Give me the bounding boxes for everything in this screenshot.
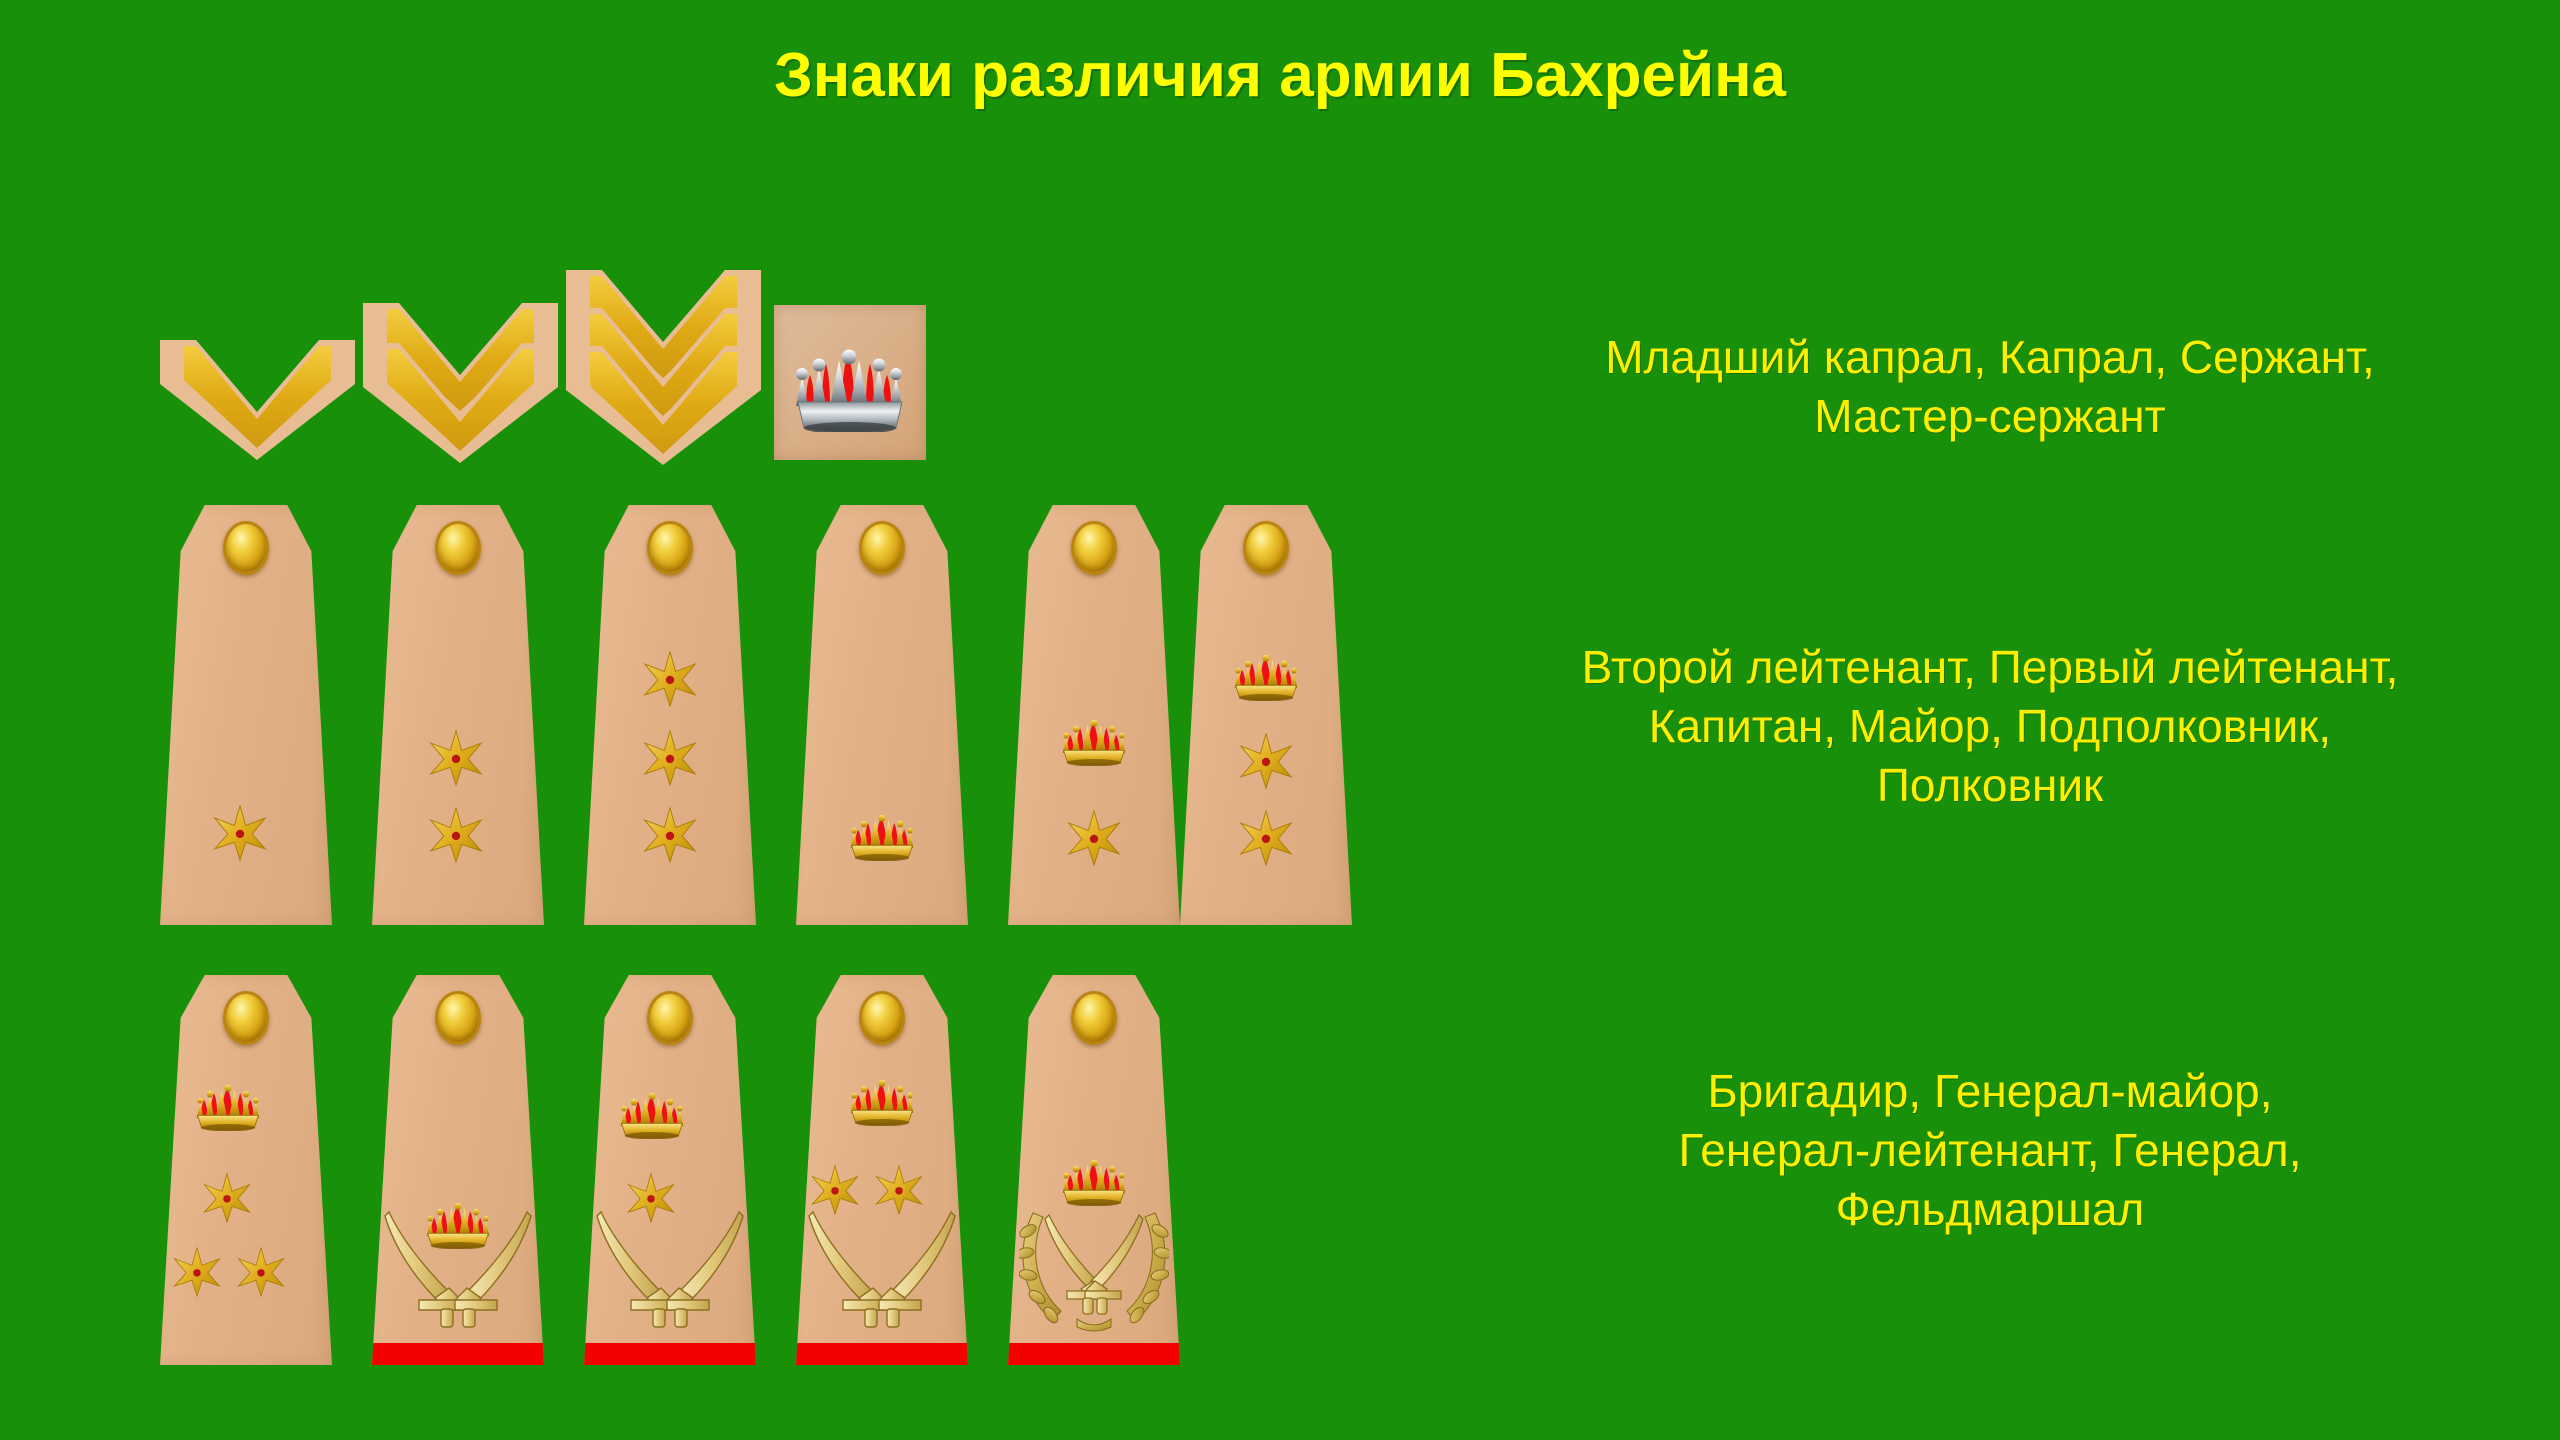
seven-point-star-icon	[428, 807, 484, 863]
insignia-master-sergeant	[774, 305, 926, 460]
seven-point-star-icon	[1066, 810, 1122, 866]
seven-point-star-icon	[428, 730, 484, 786]
epaulette-button-icon	[435, 991, 481, 1045]
caption-nco-ranks: Младший капрал, Капрал, Сержант, Мастер-…	[1490, 328, 2490, 446]
seven-point-star-icon	[236, 1247, 286, 1297]
caption-line: Второй лейтенант, Первый лейтенант,	[1490, 638, 2490, 697]
insignia-major-general	[372, 975, 544, 1365]
caption-officer-ranks: Второй лейтенант, Первый лейтенант, Капи…	[1490, 638, 2490, 815]
insignia-sergeant	[566, 270, 761, 465]
epaulette-button-icon	[223, 991, 269, 1045]
insignia-major	[796, 505, 968, 925]
insignia-field-marshal	[1008, 975, 1180, 1365]
red-rank-bar	[796, 1343, 968, 1365]
epaulette-button-icon	[859, 521, 905, 575]
crossed-swords-icon	[595, 1210, 745, 1330]
epaulette-button-icon	[859, 991, 905, 1045]
epaulette-button-icon	[435, 521, 481, 575]
caption-general-ranks: Бригадир, Генерал-майор, Генерал-лейтена…	[1490, 1062, 2490, 1239]
seven-point-star-icon	[202, 1173, 252, 1223]
gold-crown-icon	[1060, 1160, 1128, 1206]
insignia-colonel	[1180, 505, 1352, 925]
insignia-brigadier	[160, 975, 332, 1365]
chevron-stripe	[160, 340, 355, 460]
epaulette-button-icon	[223, 521, 269, 575]
seven-point-star-icon	[642, 730, 698, 786]
insignia-lieutenant-general	[584, 975, 756, 1365]
gold-crown-icon	[194, 1085, 262, 1131]
epaulette-button-icon	[1071, 521, 1117, 575]
seven-point-star-icon	[212, 805, 268, 861]
seven-point-star-icon	[874, 1165, 924, 1215]
seven-point-star-icon	[172, 1247, 222, 1297]
seven-point-star-icon	[642, 651, 698, 707]
page-title: Знаки различия армии Бахрейна	[0, 40, 2560, 111]
gold-crown-icon	[848, 815, 916, 861]
gold-crown-icon	[424, 1203, 492, 1249]
gold-crown-icon	[1060, 720, 1128, 766]
insignia-second-lieutenant	[160, 505, 332, 925]
caption-line: Генерал-лейтенант, Генерал,	[1490, 1121, 2490, 1180]
insignia-captain	[584, 505, 756, 925]
epaulette-button-icon	[647, 521, 693, 575]
laurel-wreath-icon	[1019, 1207, 1169, 1335]
insignia-lance-corporal	[160, 340, 355, 460]
seven-point-star-icon	[1238, 733, 1294, 789]
gold-crown-icon	[848, 1080, 916, 1126]
caption-line: Фельдмаршал	[1490, 1180, 2490, 1239]
seven-point-star-icon	[1238, 810, 1294, 866]
caption-line: Младший капрал, Капрал, Сержант,	[1490, 328, 2490, 387]
crossed-swords-icon	[807, 1210, 957, 1330]
insignia-corporal	[363, 303, 558, 463]
seven-point-star-icon	[642, 807, 698, 863]
epaulette-button-icon	[1243, 521, 1289, 575]
gold-crown-icon	[618, 1093, 686, 1139]
insignia-lieutenant-colonel	[1008, 505, 1180, 925]
epaulette-button-icon	[1071, 991, 1117, 1045]
caption-line: Капитан, Майор, Подполковник,	[1490, 697, 2490, 756]
insignia-general	[796, 975, 968, 1365]
caption-line: Бригадир, Генерал-майор,	[1490, 1062, 2490, 1121]
caption-line: Мастер-сержант	[1490, 387, 2490, 446]
gold-crown-icon	[1232, 655, 1300, 701]
red-rank-bar	[372, 1343, 544, 1365]
seven-point-star-icon	[810, 1165, 860, 1215]
red-rank-bar	[584, 1343, 756, 1365]
caption-line: Полковник	[1490, 756, 2490, 815]
chevron-stripe	[566, 270, 761, 465]
red-rank-bar	[1008, 1343, 1180, 1365]
epaulette-button-icon	[647, 991, 693, 1045]
insignia-first-lieutenant	[372, 505, 544, 925]
chevron-stripe	[363, 303, 558, 463]
silver-crown-icon	[790, 346, 910, 432]
